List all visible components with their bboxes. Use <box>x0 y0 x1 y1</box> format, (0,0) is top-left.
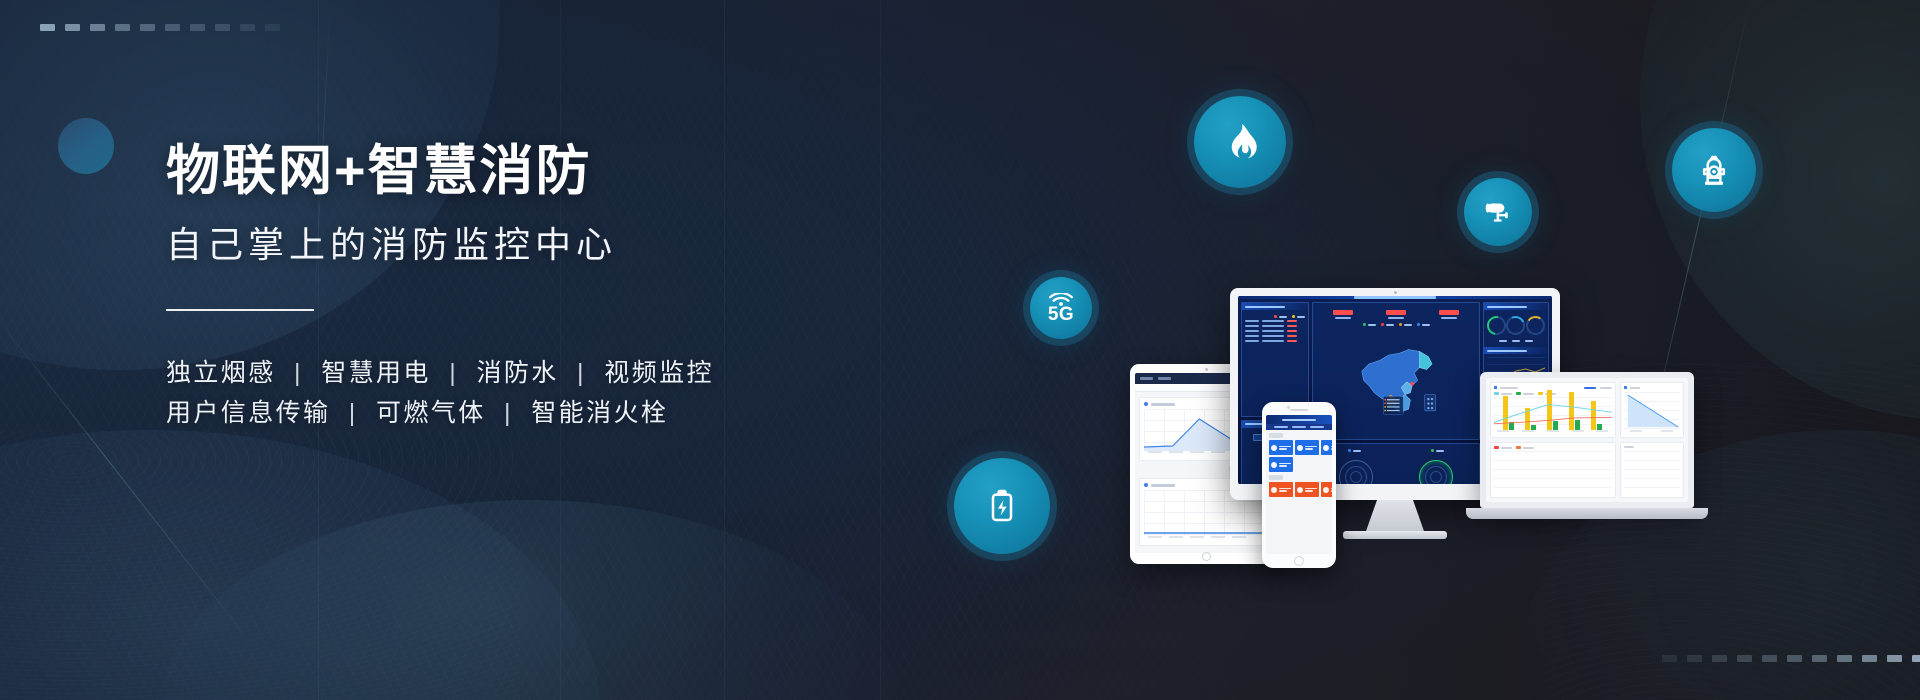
feature-item: 消防水 <box>476 359 558 387</box>
feature-item: 可燃气体 <box>376 399 486 427</box>
mesh-texture-left <box>0 430 520 700</box>
monitor-base <box>1343 531 1447 539</box>
radar-row <box>1316 455 1476 484</box>
decorative-dashes-bottom-right <box>1662 655 1920 662</box>
flame-icon-badge <box>1194 96 1286 188</box>
card-header <box>1624 386 1680 389</box>
5g-icon-badge: 5G <box>1030 277 1092 339</box>
laptop-screen <box>1486 378 1688 502</box>
mini-chart <box>1624 451 1680 494</box>
feature-separator: | <box>340 393 367 434</box>
accent-circle <box>58 118 114 174</box>
feature-item: 视频监控 <box>604 359 714 387</box>
dash <box>1837 655 1852 662</box>
kpi <box>1439 310 1459 319</box>
5g-icon: 5G <box>1048 293 1074 323</box>
flame-icon <box>1218 120 1262 164</box>
gauge-row <box>1487 313 1545 338</box>
dash <box>1687 655 1702 662</box>
laptop-bar-chart-card <box>1490 382 1616 438</box>
chart-axis <box>1494 430 1612 434</box>
laptop-bottom-card-2 <box>1620 442 1684 498</box>
phone-home-button[interactable] <box>1294 556 1304 566</box>
decorative-dashes-top-left <box>40 24 280 31</box>
phone-tile[interactable] <box>1269 440 1293 455</box>
feature-separator: | <box>440 353 467 394</box>
feature-item: 智慧用电 <box>321 359 431 387</box>
camera-icon <box>1481 195 1515 229</box>
table-row <box>1245 330 1305 332</box>
feature-item: 智能消火栓 <box>531 399 668 427</box>
feature-separator: | <box>285 353 312 394</box>
feature-list: 独立烟感 | 智慧用电 | 消防水 | 视频监控 用户信息传输 | 可燃气体 |… <box>166 353 886 434</box>
alarm-table <box>1245 320 1305 342</box>
dash <box>240 24 255 31</box>
hero-banner: 物联网+智慧消防 自己掌上的消防监控中心 独立烟感 | 智慧用电 | 消防水 |… <box>0 0 1920 700</box>
panel-header <box>1484 303 1548 310</box>
laptop-lid <box>1480 372 1694 508</box>
chart-axis <box>1624 430 1680 434</box>
dash <box>65 24 80 31</box>
phone-device <box>1262 402 1336 568</box>
phone-tabbar[interactable] <box>1266 424 1332 430</box>
dash <box>140 24 155 31</box>
phone-tile[interactable] <box>1295 440 1319 455</box>
radar-chart-2 <box>1419 460 1453 484</box>
laptop-row-2 <box>1490 442 1684 498</box>
phone-section-label-2 <box>1269 475 1283 480</box>
phone-tile[interactable] <box>1321 482 1332 497</box>
combo-chart <box>1494 397 1612 430</box>
panel-legend <box>1245 313 1305 320</box>
gauge-labels <box>1487 338 1545 344</box>
background-blob-bottom-left <box>0 430 600 700</box>
laptop-area-chart-card <box>1620 382 1684 438</box>
dash <box>1662 655 1677 662</box>
feature-line-2: 用户信息传输 | 可燃气体 | 智能消火栓 <box>166 393 886 434</box>
china-map-svg <box>1342 336 1450 428</box>
phone-tile[interactable] <box>1269 457 1293 472</box>
dash <box>165 24 180 31</box>
dash <box>1787 655 1802 662</box>
phone-titlebar <box>1266 415 1332 424</box>
laptop-device <box>1480 372 1694 532</box>
phone-tile-grid-red <box>1266 482 1332 497</box>
feature-separator: | <box>568 353 595 394</box>
feature-item: 独立烟感 <box>166 359 276 387</box>
hero-copy: 物联网+智慧消防 自己掌上的消防监控中心 独立烟感 | 智慧用电 | 消防水 |… <box>166 140 886 434</box>
map-panel <box>1312 302 1480 440</box>
dash <box>1912 655 1920 662</box>
title-divider <box>166 309 314 311</box>
card-header <box>1494 386 1612 389</box>
gauge-3 <box>1524 314 1546 336</box>
camera-icon-badge <box>1464 178 1532 246</box>
dash <box>190 24 205 31</box>
phone-speaker <box>1290 409 1308 411</box>
tablet-home-button <box>1202 552 1211 561</box>
dash <box>265 24 280 31</box>
table-row <box>1245 320 1305 322</box>
radar-headers <box>1316 447 1476 454</box>
laptop-bottom-card-1 <box>1490 442 1616 498</box>
dashboard-center-column <box>1312 302 1480 484</box>
laptop-row-1 <box>1490 382 1684 438</box>
tablet-chart-axis <box>1144 536 1268 541</box>
dash <box>1812 655 1827 662</box>
feature-line-1: 独立烟感 | 智慧用电 | 消防水 | 视频监控 <box>166 353 886 394</box>
kpi <box>1386 310 1406 319</box>
dash <box>1887 655 1902 662</box>
page-title: 物联网+智慧消防 <box>166 140 886 204</box>
laptop-base <box>1466 508 1708 519</box>
dash <box>1862 655 1877 662</box>
feature-item: 用户信息传输 <box>166 399 330 427</box>
dash <box>215 24 230 31</box>
page-subtitle: 自己掌上的消防监控中心 <box>166 222 886 267</box>
mini-chart <box>1494 451 1612 494</box>
dash <box>1737 655 1752 662</box>
card-tabs[interactable] <box>1584 387 1612 389</box>
kpi <box>1333 310 1353 319</box>
area-chart <box>1624 392 1680 430</box>
trend-header <box>1484 347 1548 354</box>
phone-section-label-1 <box>1269 433 1283 438</box>
panel-header <box>1242 303 1308 310</box>
alarm-list-panel <box>1241 302 1309 417</box>
phone-screen <box>1266 415 1332 554</box>
kpi-row <box>1316 306 1476 321</box>
phone-tile-grid-blue <box>1266 440 1332 472</box>
gauge-2 <box>1504 313 1528 337</box>
monitor-camera-dot <box>1394 291 1397 294</box>
map-legend <box>1316 321 1476 328</box>
china-map <box>1316 328 1476 436</box>
table-row <box>1245 340 1305 342</box>
device-mockups <box>1120 288 1760 588</box>
card-header <box>1624 446 1680 448</box>
feature-separator: | <box>495 393 522 434</box>
phone-tile[interactable] <box>1321 440 1332 455</box>
dash <box>90 24 105 31</box>
phone-tile[interactable] <box>1295 482 1319 497</box>
monitor-stand <box>1365 500 1425 534</box>
radar-chart-1 <box>1339 460 1373 484</box>
hydrant-icon <box>1694 150 1734 190</box>
battery-icon <box>982 486 1022 526</box>
chart-legend <box>1494 446 1612 449</box>
tablet-camera-dot <box>1205 368 1208 371</box>
dash <box>1712 655 1727 662</box>
hydrant-icon-badge <box>1672 128 1756 212</box>
dash <box>40 24 55 31</box>
phone-tile[interactable] <box>1269 482 1293 497</box>
5g-label: 5G <box>1048 307 1074 323</box>
dash <box>115 24 130 31</box>
dash <box>1762 655 1777 662</box>
radar-panel <box>1312 443 1480 484</box>
table-row <box>1245 325 1305 327</box>
battery-icon-badge <box>954 458 1050 554</box>
background-blob-bottom-left-2 <box>160 500 900 700</box>
table-row <box>1245 335 1305 337</box>
